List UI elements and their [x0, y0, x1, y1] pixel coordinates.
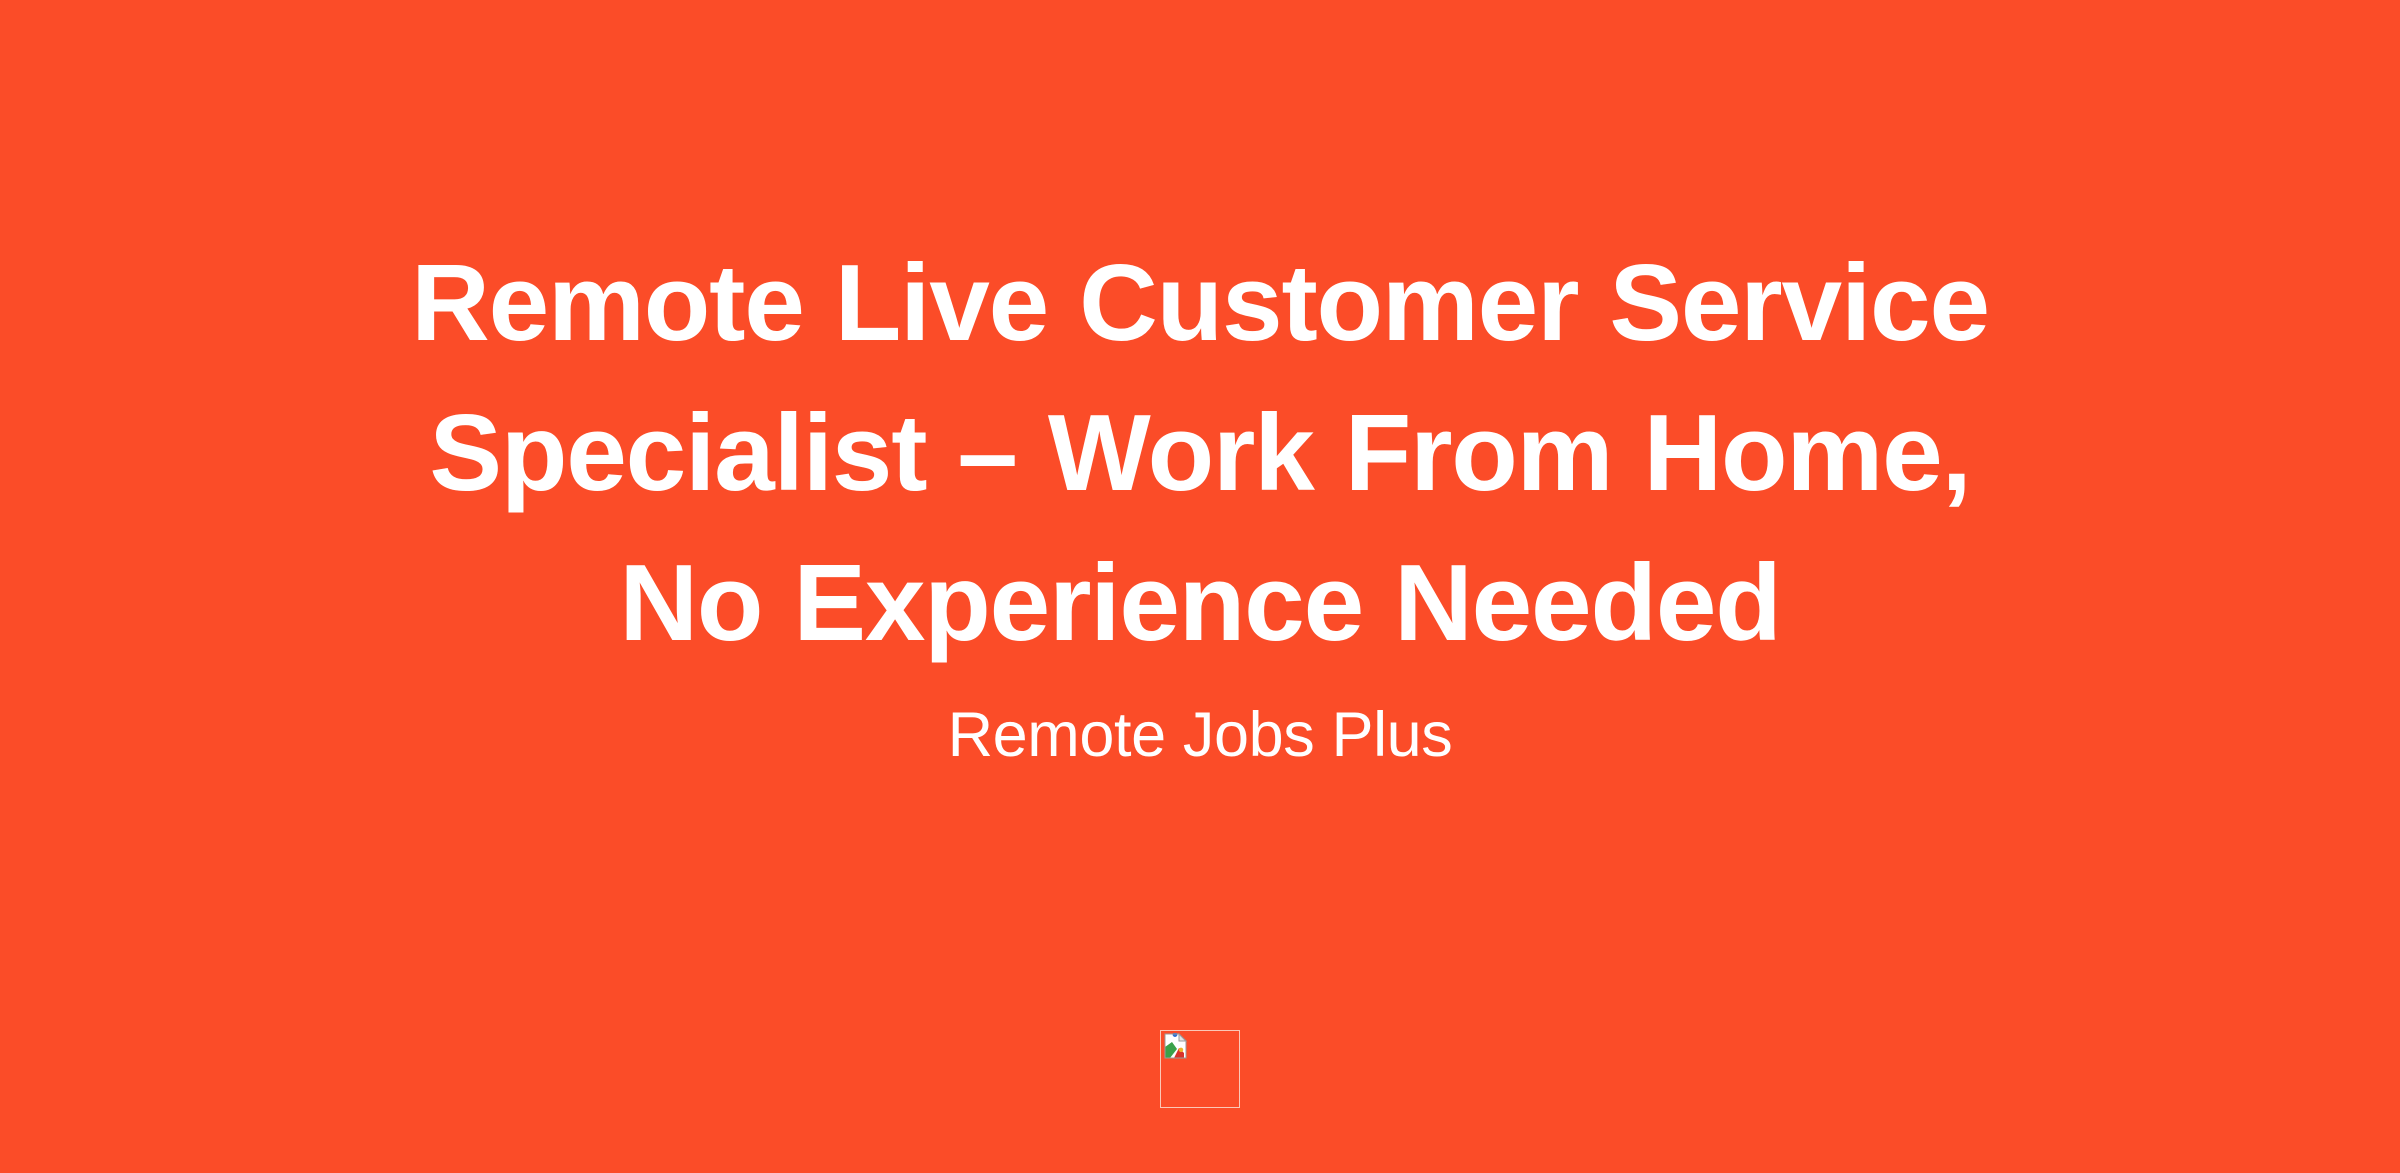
page-root: Remote Live Customer Service Specialist … [0, 0, 2400, 1173]
site-name-subtitle: Remote Jobs Plus [320, 678, 2080, 774]
broken-image-placeholder[interactable] [1160, 1030, 1240, 1108]
hero-section: Remote Live Customer Service Specialist … [320, 0, 2080, 774]
page-title: Remote Live Customer Service Specialist … [320, 228, 2080, 678]
broken-image-icon [1163, 1033, 1189, 1059]
media-placeholder-slot [1160, 1030, 1240, 1108]
